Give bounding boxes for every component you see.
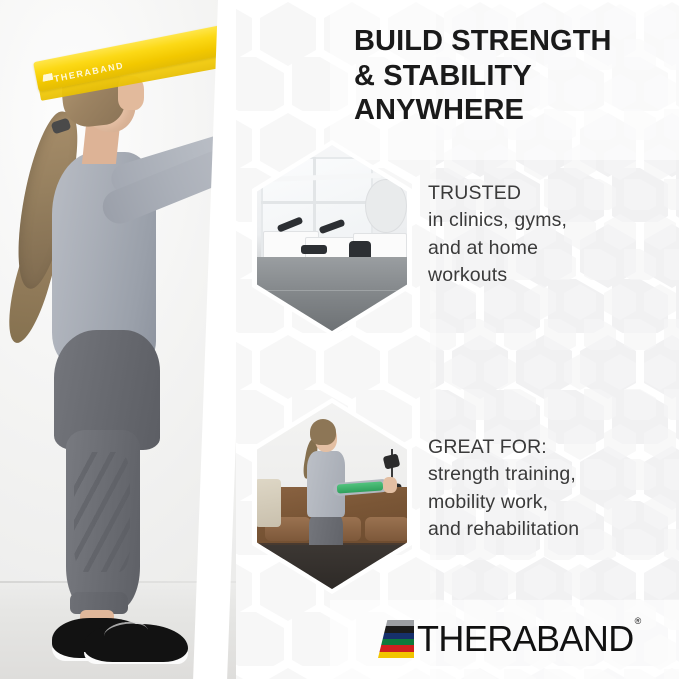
headline-line-2: & STABILITY [354, 59, 666, 94]
home-model-hair [310, 419, 336, 445]
feature-line2-trusted: and at home [428, 235, 678, 262]
feature-text-great-for: GREAT FOR: strength training, mobility w… [428, 434, 679, 544]
feature-line3-trusted: workouts [428, 262, 678, 289]
feature-photo-gym-inner [257, 145, 407, 331]
registered-trademark-icon: ® [635, 616, 642, 626]
throw-blanket [257, 479, 281, 527]
feature-line3-great-for: and rehabilitation [428, 516, 679, 543]
window-mullion-horizontal [261, 201, 369, 204]
brand-logo: THERABAND® [378, 620, 640, 658]
theraband-stripes-icon [378, 620, 414, 658]
living-room-scene [257, 403, 407, 589]
feature-lead-trusted: TRUSTED [428, 180, 678, 207]
hero-photo: THERABAND [0, 0, 236, 679]
logo-stripe-6 [378, 652, 414, 658]
brand-wordmark: THERABAND® [417, 621, 640, 657]
jogger-fabric-pleats [74, 452, 130, 572]
brand-wordmark-text: THERABAND [417, 618, 634, 659]
feature-lead-great-for: GREAT FOR: [428, 434, 679, 461]
feature-text-trusted: TRUSTED in clinics, gyms, and at home wo… [428, 180, 678, 290]
feature-line1-trusted: in clinics, gyms, [428, 207, 678, 234]
bench-pad-1 [301, 245, 327, 254]
gym-floor-seam [257, 290, 407, 291]
feature-line2-great-for: mobility work, [428, 489, 679, 516]
elliptical-machine [365, 179, 407, 233]
lamp-head-upper [383, 453, 401, 469]
marketing-image: THERABAND BUILD STRENGTH & STABILITY ANY… [0, 0, 679, 679]
headline-line-3: ANYWHERE [354, 93, 666, 128]
feature-photo-home-inner [257, 403, 407, 589]
sofa-cushion-3 [365, 517, 407, 541]
feature-line1-great-for: strength training, [428, 461, 679, 488]
home-model-hand [383, 477, 397, 493]
gym-scene [257, 145, 407, 331]
headline-line-1: BUILD STRENGTH [354, 24, 666, 59]
page-title: BUILD STRENGTH & STABILITY ANYWHERE [354, 24, 666, 128]
